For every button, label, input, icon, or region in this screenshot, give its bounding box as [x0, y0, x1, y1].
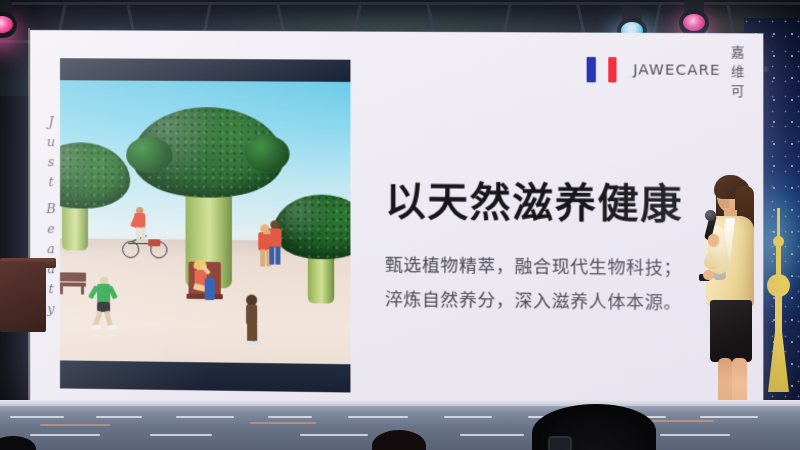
park-bench-leg [81, 286, 84, 295]
park-bench-leg [60, 285, 63, 294]
tagline-letter: B [46, 203, 56, 216]
floor-stripe [268, 416, 312, 418]
floor-stripe [700, 416, 758, 418]
tagline-letter: a [47, 243, 55, 256]
logo-chinese-name: 嘉维可 [731, 41, 756, 99]
logo-wordmark: JAWECARE [633, 62, 721, 79]
slide-photo [60, 58, 350, 392]
photo-frame-bottom [60, 360, 350, 392]
figure-shoe [108, 325, 117, 329]
figure-leg [269, 246, 274, 264]
tagline-letter: t [48, 176, 53, 189]
figure-leg [260, 249, 265, 266]
tower-spire [777, 208, 780, 238]
floor-stripe [348, 416, 408, 418]
broccoli-park-image [60, 80, 350, 364]
tagline-letter: s [48, 156, 55, 169]
tagline-letter: u [47, 136, 55, 149]
floor-stripe [96, 416, 142, 418]
figure-leg [275, 247, 280, 265]
floor-accent-stripe [40, 424, 110, 426]
brand-logo: JAWECARE 嘉维可 ® [587, 41, 769, 100]
tagline-letter: J [48, 116, 53, 129]
figure-arm [263, 230, 270, 234]
logo-flag-blue [587, 57, 596, 82]
tagline-letter: e [47, 223, 55, 236]
floor-stripe [10, 416, 64, 418]
figure-shoe [92, 325, 101, 329]
floor-stripe [444, 416, 492, 418]
floor-stripe [30, 434, 100, 436]
projection-screen: JAWECARE 嘉维可 ® J u s t B e a u t y [30, 30, 763, 419]
park-bench-back [60, 272, 86, 281]
figure-torso [246, 305, 257, 325]
presentation-slide: JAWECARE 嘉维可 ® J u s t B e a u t y [30, 30, 763, 419]
floor-stripe [176, 416, 234, 418]
bike-rack [148, 239, 160, 246]
logo-flag-red [608, 57, 617, 82]
presenter-hand-lower [703, 270, 714, 280]
figure-towel [205, 278, 215, 300]
floor-accent-stripe [250, 422, 316, 424]
photo-frame-top [60, 58, 350, 82]
tower-column-lower [775, 294, 782, 334]
figure-leg [136, 227, 140, 240]
tagline-letter: y [47, 303, 54, 316]
floor-stripe [460, 434, 524, 436]
presenter-skirt [710, 300, 752, 362]
broccoli-floret [126, 137, 172, 173]
podium [0, 262, 46, 332]
floor-stripe [150, 434, 212, 436]
floor-stripe [660, 434, 730, 436]
figure-shoe [253, 341, 262, 345]
presenter-hand [708, 234, 719, 247]
registered-mark-icon: ® [763, 67, 768, 74]
microphone-head-icon [705, 210, 716, 221]
stage-scene: JAWECARE 嘉维可 ® J u s t B e a u t y [0, 0, 800, 450]
tagline-letter: t [48, 283, 53, 296]
light-lens [683, 14, 705, 31]
floor-stripe [300, 434, 368, 436]
broccoli-floret [245, 136, 290, 173]
eyeglasses-icon [548, 436, 572, 450]
figure-leg [141, 227, 145, 239]
